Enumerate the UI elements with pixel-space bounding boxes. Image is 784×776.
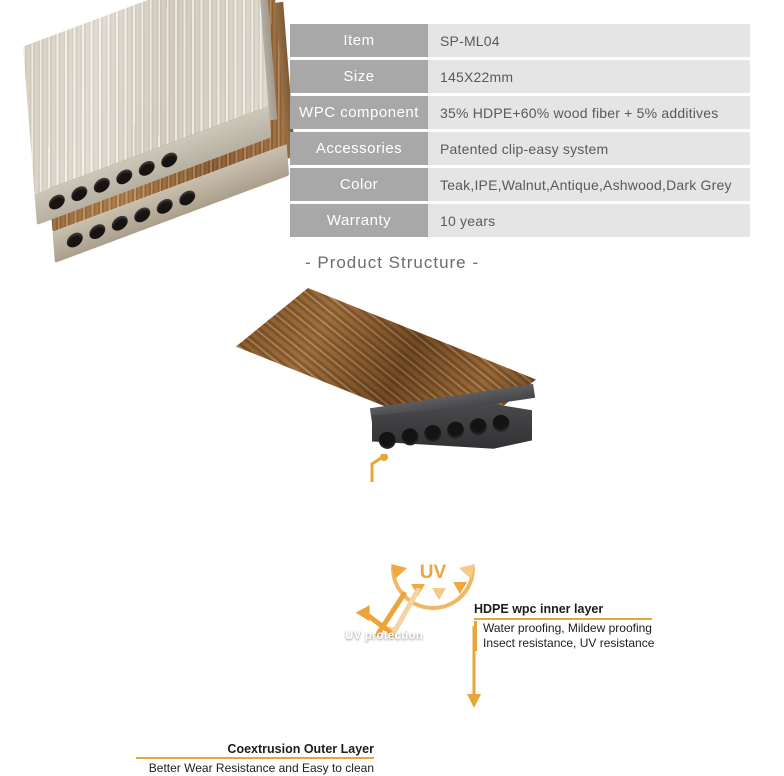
spec-value-warranty: 10 years: [428, 204, 750, 237]
hollow-core-hole: [446, 420, 465, 439]
hollow-core-hole: [89, 221, 106, 240]
spec-label-accessories: Accessories: [290, 132, 428, 165]
annotation-outer-layer-rule: [136, 757, 374, 759]
table-row: Item SP-ML04: [290, 24, 750, 57]
spec-value-color: Teak,IPE,Walnut,Antique,Ashwood,Dark Gre…: [428, 168, 750, 201]
table-row: Warranty 10 years: [290, 204, 750, 237]
annotation-inner-layer-line2: Insect resistance, UV resistance: [483, 636, 654, 651]
annotation-inner-layer-title: HDPE wpc inner layer: [474, 602, 654, 616]
hollow-core-hole: [111, 213, 128, 232]
hollow-core-hole: [400, 427, 419, 446]
spec-value-size: 145X22mm: [428, 60, 750, 93]
spec-label-item: Item: [290, 24, 428, 57]
spec-value-item: SP-ML04: [428, 24, 750, 57]
spec-value-wpc-component: 35% HDPE+60% wood fiber + 5% additives: [428, 96, 750, 129]
hollow-core-hole: [469, 417, 488, 436]
outer-layer-leader-line: [366, 454, 390, 484]
uv-sun-text: UV: [420, 562, 447, 583]
product-photo: [0, 0, 290, 258]
specification-table: Item SP-ML04 Size 145X22mm WPC component…: [290, 24, 750, 240]
spec-value-accessories: Patented clip-easy system: [428, 132, 750, 165]
annotation-outer-layer-line1: Better Wear Resistance and Easy to clean: [136, 761, 374, 776]
table-row: Size 145X22mm: [290, 60, 750, 93]
hollow-core-hole: [116, 167, 133, 186]
hollow-core-hole: [138, 158, 155, 177]
product-structure-diagram: UV UV protection HDPE wpc inner layer Wa…: [0, 276, 784, 516]
table-row: Accessories Patented clip-easy system: [290, 132, 750, 165]
hollow-core-hole: [134, 205, 151, 224]
annotation-inner-layer: HDPE wpc inner layer Water proofing, Mil…: [474, 602, 654, 651]
hollow-core-hole: [66, 230, 83, 249]
annotation-inner-layer-rule: [474, 618, 652, 620]
hollow-core-hole: [179, 188, 196, 207]
hollow-core-hole: [71, 183, 88, 202]
spec-label-color: Color: [290, 168, 428, 201]
hollow-core-hole: [161, 150, 178, 169]
spec-label-warranty: Warranty: [290, 204, 428, 237]
hollow-core-hole: [48, 192, 65, 211]
section-title: - Product Structure -: [0, 253, 784, 273]
hollow-core-hole: [491, 413, 510, 432]
spec-label-size: Size: [290, 60, 428, 93]
hollow-core-hole: [423, 423, 442, 442]
uv-protection-label: UV protection: [345, 630, 423, 642]
hollow-core-hole: [93, 175, 110, 194]
table-row: WPC component 35% HDPE+60% wood fiber + …: [290, 96, 750, 129]
annotation-outer-layer: Coextrusion Outer Layer Better Wear Resi…: [136, 742, 374, 776]
hollow-core-hole: [156, 196, 173, 215]
table-row: Color Teak,IPE,Walnut,Antique,Ashwood,Da…: [290, 168, 750, 201]
annotation-outer-layer-title: Coextrusion Outer Layer: [136, 742, 374, 756]
annotation-inner-layer-line1: Water proofing, Mildew proofing: [483, 621, 654, 636]
hollow-core-hole: [378, 430, 397, 449]
spec-label-wpc-component: WPC component: [290, 96, 428, 129]
